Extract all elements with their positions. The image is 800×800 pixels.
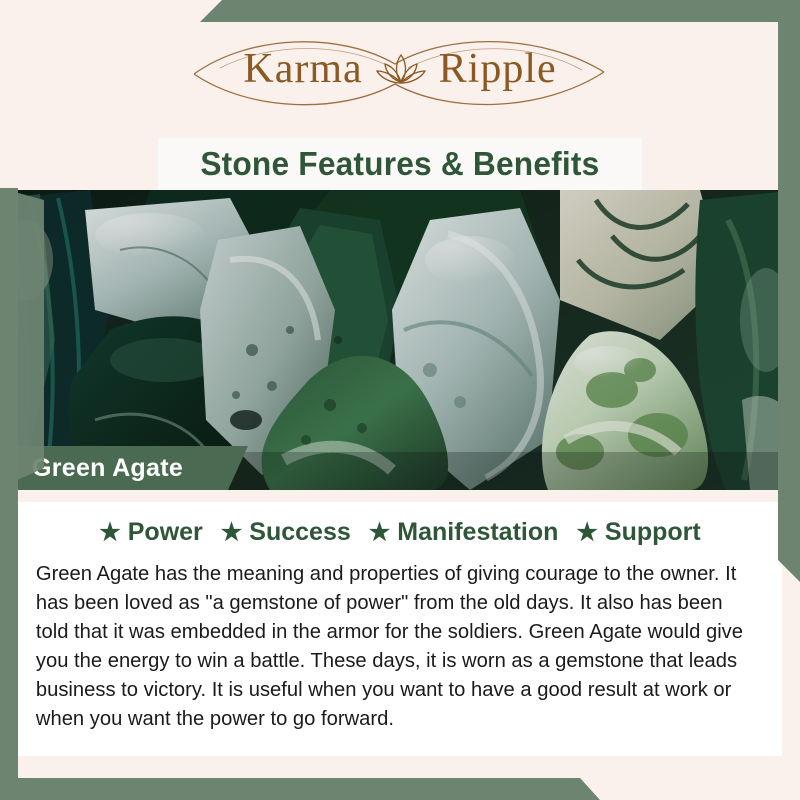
keyword-label: Support [605,518,701,547]
star-icon: ★ [369,521,391,545]
frame-bottom [0,778,800,800]
keyword-power: ★ Power [99,518,203,547]
frame-right [778,0,800,582]
keyword-label: Power [128,518,203,547]
brand-wordmark: Karma Ripple [243,48,556,90]
keyword-success: ★ Success [221,518,351,547]
stone-photo-image [0,190,800,490]
frame-left [0,188,18,800]
brand-logo: Karma Ripple [0,28,800,110]
keyword-manifestation: ★ Manifestation [369,518,559,547]
stone-description: Green Agate has the meaning and properti… [28,555,761,733]
brand-name-left: Karma [243,48,362,90]
brand-name-right: Ripple [439,48,557,90]
lotus-icon [373,49,429,89]
page-title: Stone Features & Benefits [200,145,599,183]
stone-photo: Green Agate [0,190,800,490]
keyword-label: Manifestation [397,518,558,547]
content-top-tint [18,490,782,502]
keyword-label: Success [249,518,350,547]
star-icon: ★ [99,521,121,545]
poster-root: Karma Ripple Stone Features & Benefits [0,0,800,800]
title-banner: Stone Features & Benefits [158,138,642,190]
star-icon: ★ [221,521,243,545]
content-panel: ★ Power ★ Success ★ Manifestation ★ Supp… [18,490,782,756]
star-icon: ★ [576,521,598,545]
keyword-support: ★ Support [576,518,700,547]
keyword-list: ★ Power ★ Success ★ Manifestation ★ Supp… [28,518,772,547]
